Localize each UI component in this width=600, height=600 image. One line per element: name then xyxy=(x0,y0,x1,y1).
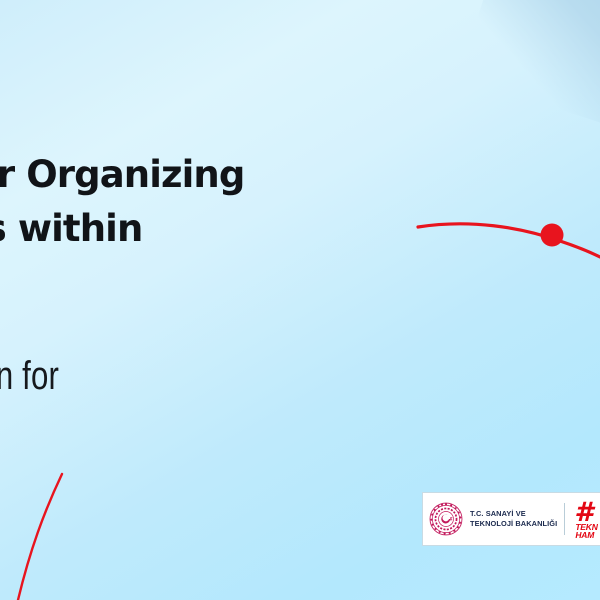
subtitle: are Open for xyxy=(0,352,600,400)
headline-line-3: y xyxy=(0,256,600,310)
subtitle-line-1: are Open for xyxy=(0,352,458,400)
headline-line-2: leetings within xyxy=(0,202,600,256)
campaign-word-line-2: HAM xyxy=(575,531,594,539)
logo-lockup: T.C. SANAYİ VE TEKNOLOJİ BAKANLIĞI # TEK… xyxy=(422,492,600,546)
ministry-name: T.C. SANAYİ VE TEKNOLOJİ BAKANLIĞI xyxy=(470,509,557,528)
ministry-name-line-1: T.C. SANAYİ VE xyxy=(470,509,557,519)
campaign-logo: # TEKN HAM xyxy=(572,499,600,539)
ministry-name-line-2: TEKNOLOJİ BAKANLIĞI xyxy=(470,519,557,529)
red-curve-bottom-left xyxy=(18,474,62,600)
corner-wedge-decoration xyxy=(458,0,600,135)
lockup-divider xyxy=(564,503,565,535)
headline-line-1: rams for Organizing xyxy=(0,148,600,202)
promotional-banner: rams for Organizing leetings within y ar… xyxy=(0,0,600,600)
headline: rams for Organizing leetings within y xyxy=(0,148,600,310)
ministry-logo: T.C. SANAYİ VE TEKNOLOJİ BAKANLIĞI xyxy=(429,502,557,536)
turkish-ministry-seal-icon xyxy=(429,502,463,536)
